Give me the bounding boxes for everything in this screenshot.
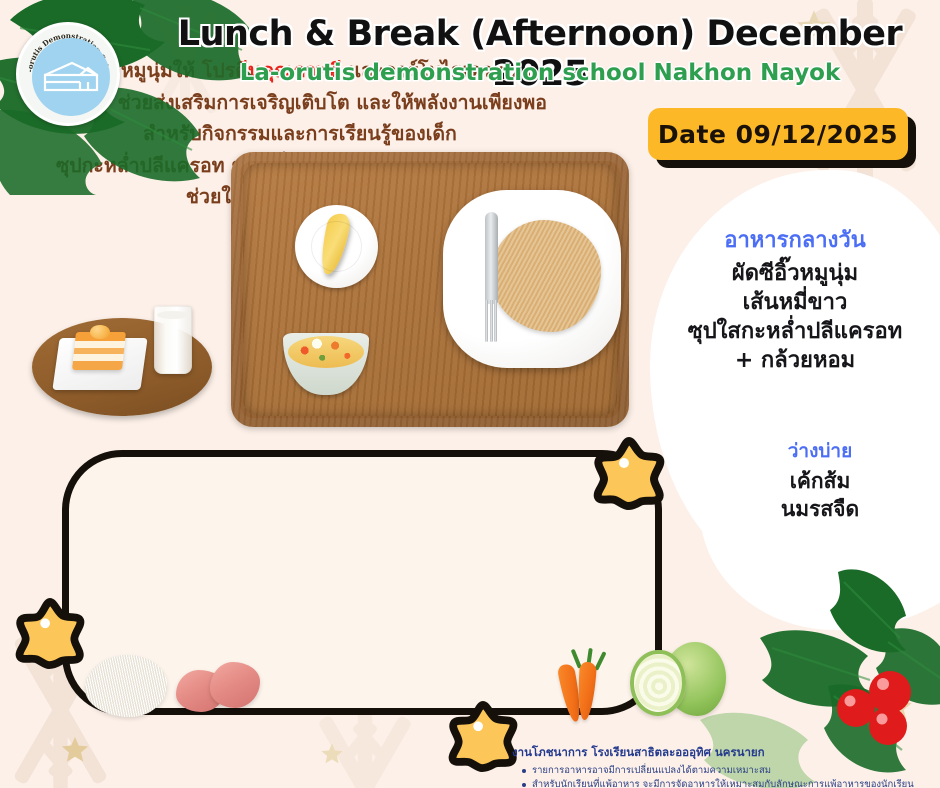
fork-tine — [490, 300, 493, 342]
fork-tine — [494, 300, 497, 342]
main-dish-plate — [443, 190, 621, 368]
stir-fried-noodles — [491, 220, 601, 332]
soup-contents — [288, 336, 364, 368]
lunch-item: เส้นหมี่ขาว — [650, 288, 940, 317]
bullet-dot-icon — [522, 769, 526, 773]
lunch-item: ผัดซีอิ๊วหมูนุ่ม — [650, 259, 940, 288]
logo-building-icon — [32, 38, 110, 116]
lunch-item: ซุปใสกะหล่ำปลีแครอท — [650, 317, 940, 346]
fork-handle — [485, 212, 498, 304]
school-logo: La-orutis Demonstration School ● โรงเรีย… — [16, 22, 120, 126]
footer-title: งานโภชนาการ โรงเรียนสาธิตละอออุทิศ นครนา… — [512, 744, 940, 762]
star-icon — [320, 742, 344, 766]
carrot-photo — [548, 648, 620, 724]
banana-item — [317, 211, 352, 276]
star-icon — [880, 690, 914, 724]
footer-bullet-text: รายการอาหารอาจมีการเปลี่ยนแปลงได้ตามความ… — [532, 764, 771, 778]
lunch-menu-block: อาหารกลางวัน ผัดซีอิ๊วหมูนุ่ม เส้นหมี่ขา… — [650, 222, 940, 375]
footer-bullet: สำหรับนักเรียนที่แพ้อาหาร จะมีการจัดอาหา… — [512, 778, 940, 788]
footer-note: งานโภชนาการ โรงเรียนสาธิตละอออุทิศ นครนา… — [512, 744, 940, 788]
pork-photo — [176, 662, 260, 716]
fork-utensil — [483, 212, 500, 352]
tray-inner-surface — [243, 163, 617, 416]
star-icon — [60, 735, 90, 765]
date-badge-wrapper: Date 09/12/2025 — [648, 108, 908, 160]
milk-glass — [154, 306, 192, 374]
soup-bowl — [283, 333, 369, 395]
cake-orange-topping — [90, 325, 110, 339]
fork-tine — [485, 300, 488, 342]
star-icon — [447, 700, 519, 772]
footer-bullet-text: สำหรับนักเรียนที่แพ้อาหาร จะมีการจัดอาหา… — [532, 778, 914, 788]
snack-heading: ว่างบ่าย — [700, 436, 940, 466]
banana-saucer — [295, 205, 378, 288]
info-line-pre: เส้นหมี่ ช่วยส่งเสริมการเจริญเติบโต และใ… — [53, 91, 547, 114]
cabbage-photo — [630, 640, 726, 722]
snack-menu-block: ว่างบ่าย เค้กส้ม นมรสจืด — [700, 436, 940, 523]
page-subtitle: La-orutis demonstration school Nakhon Na… — [150, 60, 930, 86]
snack-item: นมรสจืด — [700, 496, 940, 524]
snack-photo — [32, 300, 222, 422]
lunch-item: + กล้วยหอม — [650, 346, 940, 375]
holly-berry-icon — [837, 671, 911, 745]
lunch-heading: อาหารกลางวัน — [650, 222, 940, 257]
poster-canvas: La-orutis Demonstration School ● โรงเรีย… — [0, 0, 940, 788]
bullet-dot-icon — [522, 783, 526, 787]
info-line-pre: สำหรับกิจกรรมและการเรียนรู้ของเด็ก — [143, 122, 457, 145]
date-badge: Date 09/12/2025 — [648, 108, 908, 160]
cabbage-half — [630, 650, 686, 716]
lunch-tray-photo — [231, 152, 629, 427]
rice-vermicelli-photo — [85, 655, 167, 717]
snack-item: เค้กส้ม — [700, 468, 940, 496]
footer-bullet: รายการอาหารอาจมีการเปลี่ยนแปลงได้ตามความ… — [512, 764, 940, 778]
star-icon — [592, 436, 666, 510]
star-icon — [14, 597, 86, 669]
